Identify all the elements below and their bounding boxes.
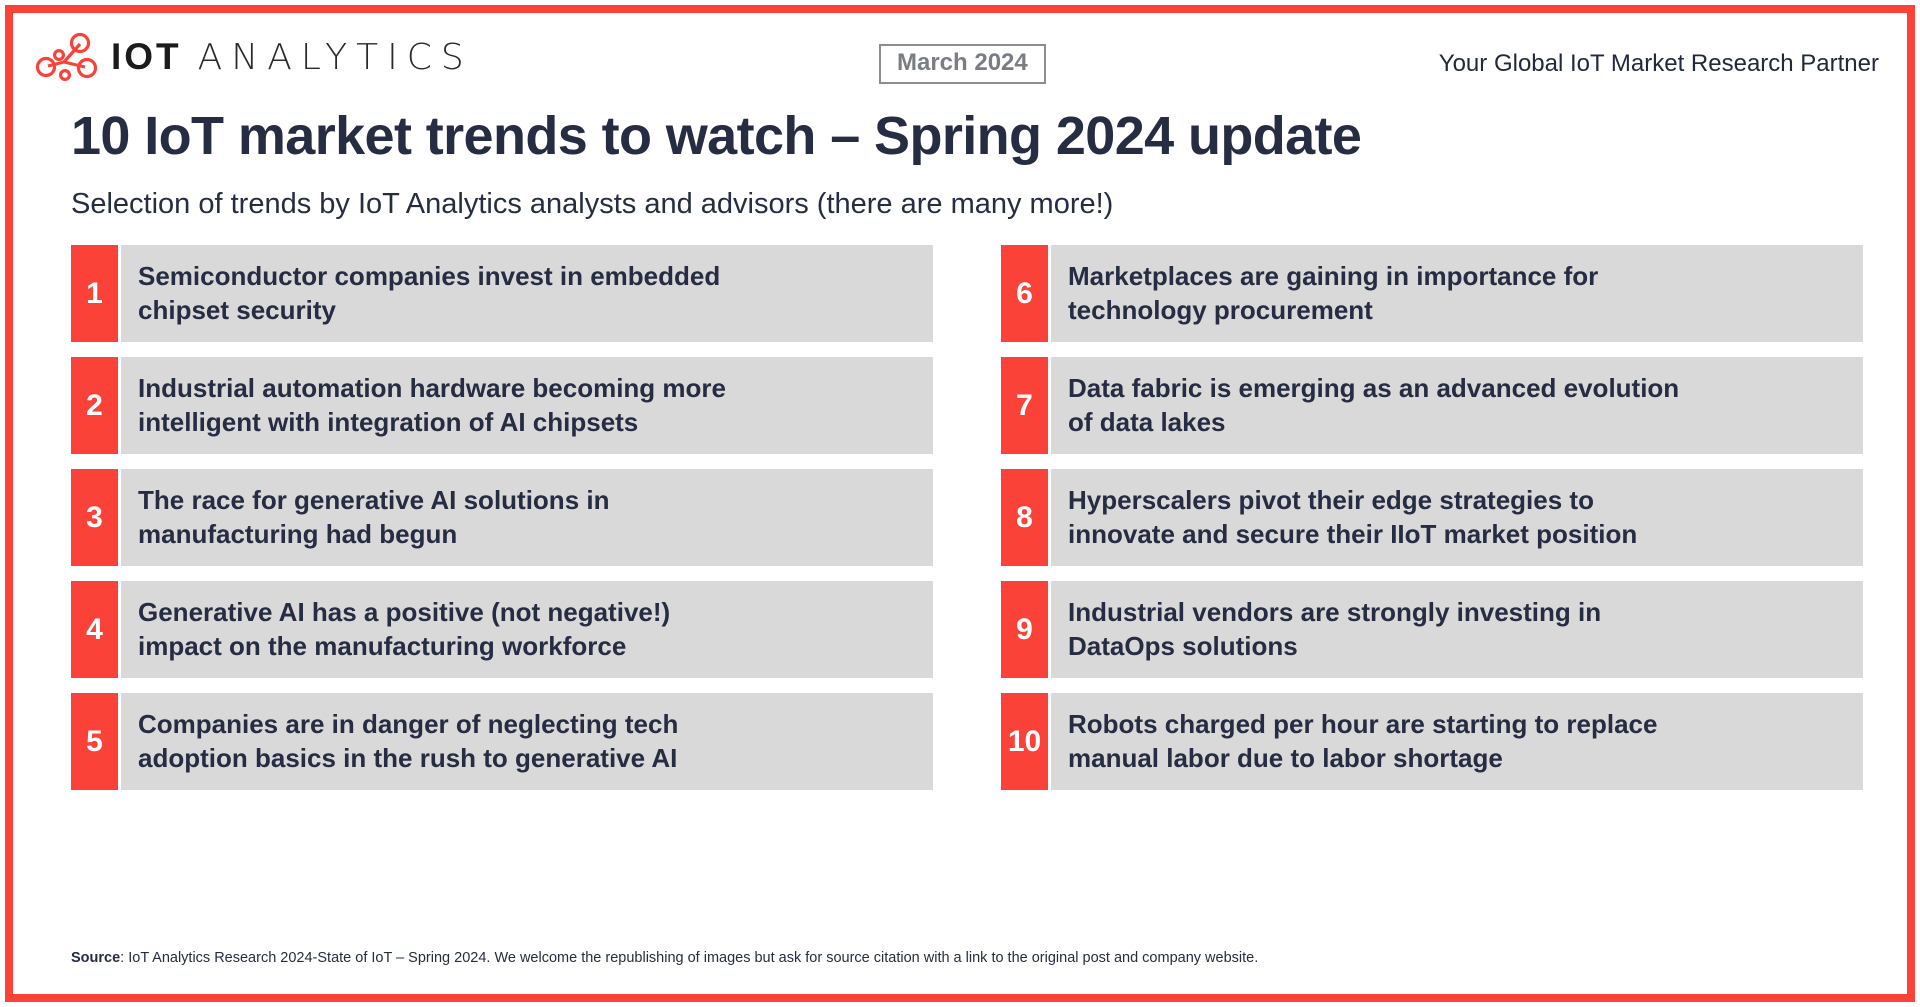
trend-card: 7 Data fabric is emerging as an advanced… — [1001, 357, 1863, 454]
logo-text-analytics: ANALYTICS — [198, 37, 473, 78]
trend-text-line: Marketplaces are gaining in importance f… — [1068, 260, 1598, 294]
header: IOT ANALYTICS March 2024 Your Global IoT… — [13, 13, 1907, 95]
source-note: Source: IoT Analytics Research 2024-Stat… — [71, 950, 1258, 966]
page-subtitle: Selection of trends by IoT Analytics ana… — [71, 188, 1113, 221]
trend-card: 6 Marketplaces are gaining in importance… — [1001, 245, 1863, 342]
trend-text-line: Generative AI has a positive (not negati… — [138, 596, 670, 630]
date-badge: March 2024 — [879, 44, 1046, 84]
trend-text: Semiconductor companies invest in embedd… — [121, 245, 933, 342]
logo-text-iot: IOT — [111, 36, 182, 78]
trend-number-badge: 7 — [1001, 357, 1048, 454]
trend-text-line: impact on the manufacturing workforce — [138, 630, 670, 664]
trend-number-badge: 6 — [1001, 245, 1048, 342]
trend-text-line: technology procurement — [1068, 294, 1598, 328]
page-title: 10 IoT market trends to watch – Spring 2… — [71, 105, 1361, 167]
trends-column-right: 6 Marketplaces are gaining in importance… — [1001, 245, 1863, 790]
source-label: Source — [71, 950, 120, 966]
trends-grid: 1 Semiconductor companies invest in embe… — [71, 245, 1863, 790]
trend-number-badge: 5 — [71, 693, 118, 790]
network-nodes-icon — [35, 31, 99, 83]
trend-text-line: The race for generative AI solutions in — [138, 484, 609, 518]
slide: IOT ANALYTICS March 2024 Your Global IoT… — [0, 0, 1920, 1007]
trend-text-line: innovate and secure their IIoT market po… — [1068, 518, 1637, 552]
trend-text: Companies are in danger of neglecting te… — [121, 693, 933, 790]
trend-text-line: manual labor due to labor shortage — [1068, 742, 1657, 776]
trend-text: The race for generative AI solutions in … — [121, 469, 933, 566]
trend-text-line: Industrial vendors are strongly investin… — [1068, 596, 1601, 630]
trend-card: 4 Generative AI has a positive (not nega… — [71, 581, 933, 678]
trend-card: 2 Industrial automation hardware becomin… — [71, 357, 933, 454]
trend-text-line: manufacturing had begun — [138, 518, 609, 552]
source-text: : IoT Analytics Research 2024-State of I… — [120, 950, 1258, 966]
trend-text-line: intelligent with integration of AI chips… — [138, 406, 726, 440]
trend-text-line: Companies are in danger of neglecting te… — [138, 708, 678, 742]
red-border-frame: IOT ANALYTICS March 2024 Your Global IoT… — [5, 5, 1915, 1002]
trend-text-line: Industrial automation hardware becoming … — [138, 372, 726, 406]
trend-text-line: of data lakes — [1068, 406, 1679, 440]
trend-text: Generative AI has a positive (not negati… — [121, 581, 933, 678]
trend-number-badge: 10 — [1001, 693, 1048, 790]
trend-text-line: Semiconductor companies invest in embedd… — [138, 260, 720, 294]
trend-card: 3 The race for generative AI solutions i… — [71, 469, 933, 566]
trend-number-badge: 3 — [71, 469, 118, 566]
trend-card: 1 Semiconductor companies invest in embe… — [71, 245, 933, 342]
trend-number-badge: 9 — [1001, 581, 1048, 678]
trend-card: 9 Industrial vendors are strongly invest… — [1001, 581, 1863, 678]
slide-content: IOT ANALYTICS March 2024 Your Global IoT… — [13, 13, 1907, 994]
trend-text-line: DataOps solutions — [1068, 630, 1601, 664]
trend-number-badge: 1 — [71, 245, 118, 342]
trend-text: Hyperscalers pivot their edge strategies… — [1051, 469, 1863, 566]
trend-number-badge: 8 — [1001, 469, 1048, 566]
trend-text: Industrial automation hardware becoming … — [121, 357, 933, 454]
trend-text: Marketplaces are gaining in importance f… — [1051, 245, 1863, 342]
trend-text: Data fabric is emerging as an advanced e… — [1051, 357, 1863, 454]
trend-text-line: adoption basics in the rush to generativ… — [138, 742, 678, 776]
trend-card: 8 Hyperscalers pivot their edge strategi… — [1001, 469, 1863, 566]
trend-card: 10 Robots charged per hour are starting … — [1001, 693, 1863, 790]
trend-text: Robots charged per hour are starting to … — [1051, 693, 1863, 790]
logo-wordmark: IOT ANALYTICS — [111, 36, 473, 78]
trend-text: Industrial vendors are strongly investin… — [1051, 581, 1863, 678]
trend-number-badge: 2 — [71, 357, 118, 454]
iot-analytics-logo: IOT ANALYTICS — [35, 29, 473, 85]
company-tagline: Your Global IoT Market Research Partner — [1439, 50, 1879, 78]
trend-text-line: Hyperscalers pivot their edge strategies… — [1068, 484, 1637, 518]
trends-column-left: 1 Semiconductor companies invest in embe… — [71, 245, 933, 790]
trend-text-line: chipset security — [138, 294, 720, 328]
trend-text-line: Data fabric is emerging as an advanced e… — [1068, 372, 1679, 406]
trend-number-badge: 4 — [71, 581, 118, 678]
trend-card: 5 Companies are in danger of neglecting … — [71, 693, 933, 790]
trend-text-line: Robots charged per hour are starting to … — [1068, 708, 1657, 742]
